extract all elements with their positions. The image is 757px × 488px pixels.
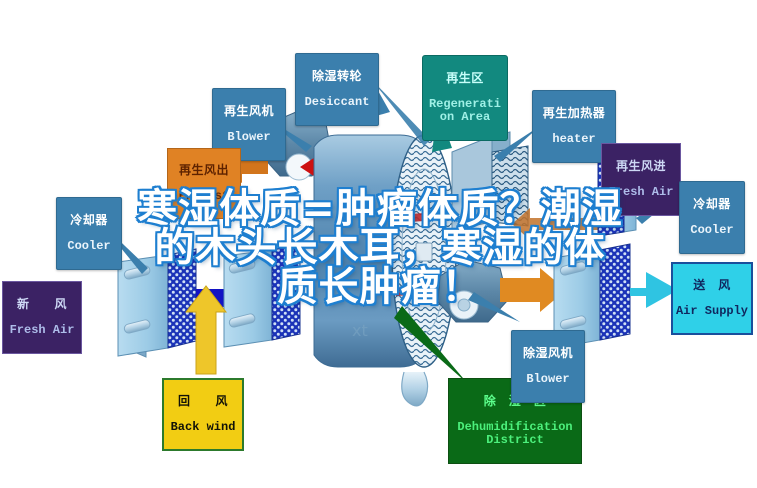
label-blower-dehum: 除湿风机 Blower [511, 330, 585, 403]
cooling-coil-left-2 [224, 245, 300, 347]
label-blower-dehum-cn: 除湿风机 [514, 347, 582, 360]
label-regen-exhaust-en: Exhaust [170, 190, 238, 203]
label-regen-exhaust-cn: 再生风出 [170, 164, 238, 177]
label-air-supply: 送 风 Air Supply [671, 262, 753, 335]
label-blower-regen-en: Blower [215, 131, 283, 144]
label-regen-heater-cn: 再生加热器 [535, 107, 613, 120]
label-air-supply-cn: 送 风 [675, 279, 749, 292]
label-back-wind: 回 风 Back wind [162, 378, 244, 451]
label-regen-fresh-air-in-en: Fresh Air [604, 186, 678, 199]
label-back-wind-en: Back wind [166, 421, 240, 434]
label-fresh-air-in-en: Fresh Air [5, 324, 79, 337]
label-cooler-left-cn: 冷却器 [59, 214, 119, 227]
label-desiccant-rotor-cn: 除湿转轮 [298, 70, 376, 83]
label-desiccant-rotor-en: Desiccant [298, 96, 376, 109]
label-regen-fresh-air-in-cn: 再生风进 [604, 160, 678, 173]
desiccant-rotor: xt [314, 135, 456, 367]
label-regeneration-area: 再生区 Regenerati on Area [422, 55, 508, 141]
label-regen-fresh-air-in: 再生风进 Fresh Air [601, 143, 681, 216]
label-cooler-right: 冷却器 Cooler [679, 181, 745, 254]
label-cooler-left: 冷却器 Cooler [56, 197, 122, 270]
label-air-supply-en: Air Supply [675, 305, 749, 318]
label-cooler-right-en: Cooler [682, 224, 742, 237]
label-cooler-right-cn: 冷却器 [682, 198, 742, 211]
label-blower-regen-cn: 再生风机 [215, 105, 283, 118]
label-fresh-air-in: 新 风 Fresh Air [2, 281, 82, 354]
svg-text:xt: xt [352, 321, 368, 340]
diagram-canvas: xt [0, 0, 757, 488]
label-regeneration-area-en: Regenerati on Area [425, 98, 505, 124]
label-back-wind-cn: 回 风 [166, 395, 240, 408]
label-desiccant-rotor: 除湿转轮 Desiccant [295, 53, 379, 126]
label-blower-dehum-en: Blower [514, 373, 582, 386]
label-fresh-air-in-cn: 新 风 [5, 298, 79, 311]
label-dehumidification-district-en: Dehumidification District [451, 421, 579, 447]
drain-hose [402, 372, 428, 406]
label-regen-exhaust: 再生风出 Exhaust [167, 148, 241, 219]
label-cooler-left-en: Cooler [59, 240, 119, 253]
cooling-coil-left [118, 249, 196, 356]
label-regeneration-area-cn: 再生区 [425, 72, 505, 85]
